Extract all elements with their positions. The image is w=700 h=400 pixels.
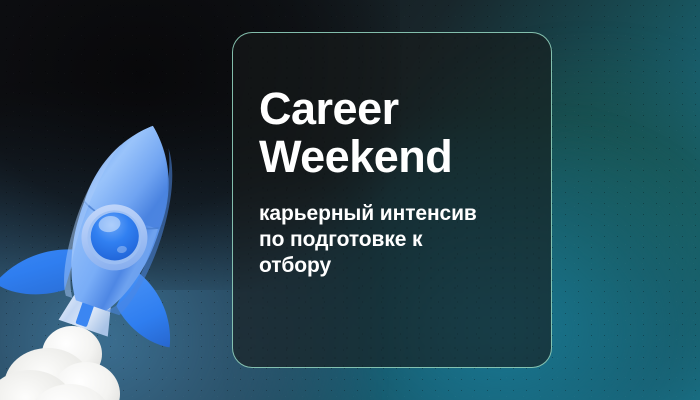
page-title: Career Weekend xyxy=(259,85,527,181)
promo-banner: Career Weekend карьерный интенсив по под… xyxy=(0,0,700,400)
rocket-smoke xyxy=(0,326,120,400)
promo-card: Career Weekend карьерный интенсив по под… xyxy=(232,32,552,368)
rocket-illustration xyxy=(0,110,210,400)
card-subtitle: карьерный интенсив по подготовке к отбор… xyxy=(259,201,527,278)
